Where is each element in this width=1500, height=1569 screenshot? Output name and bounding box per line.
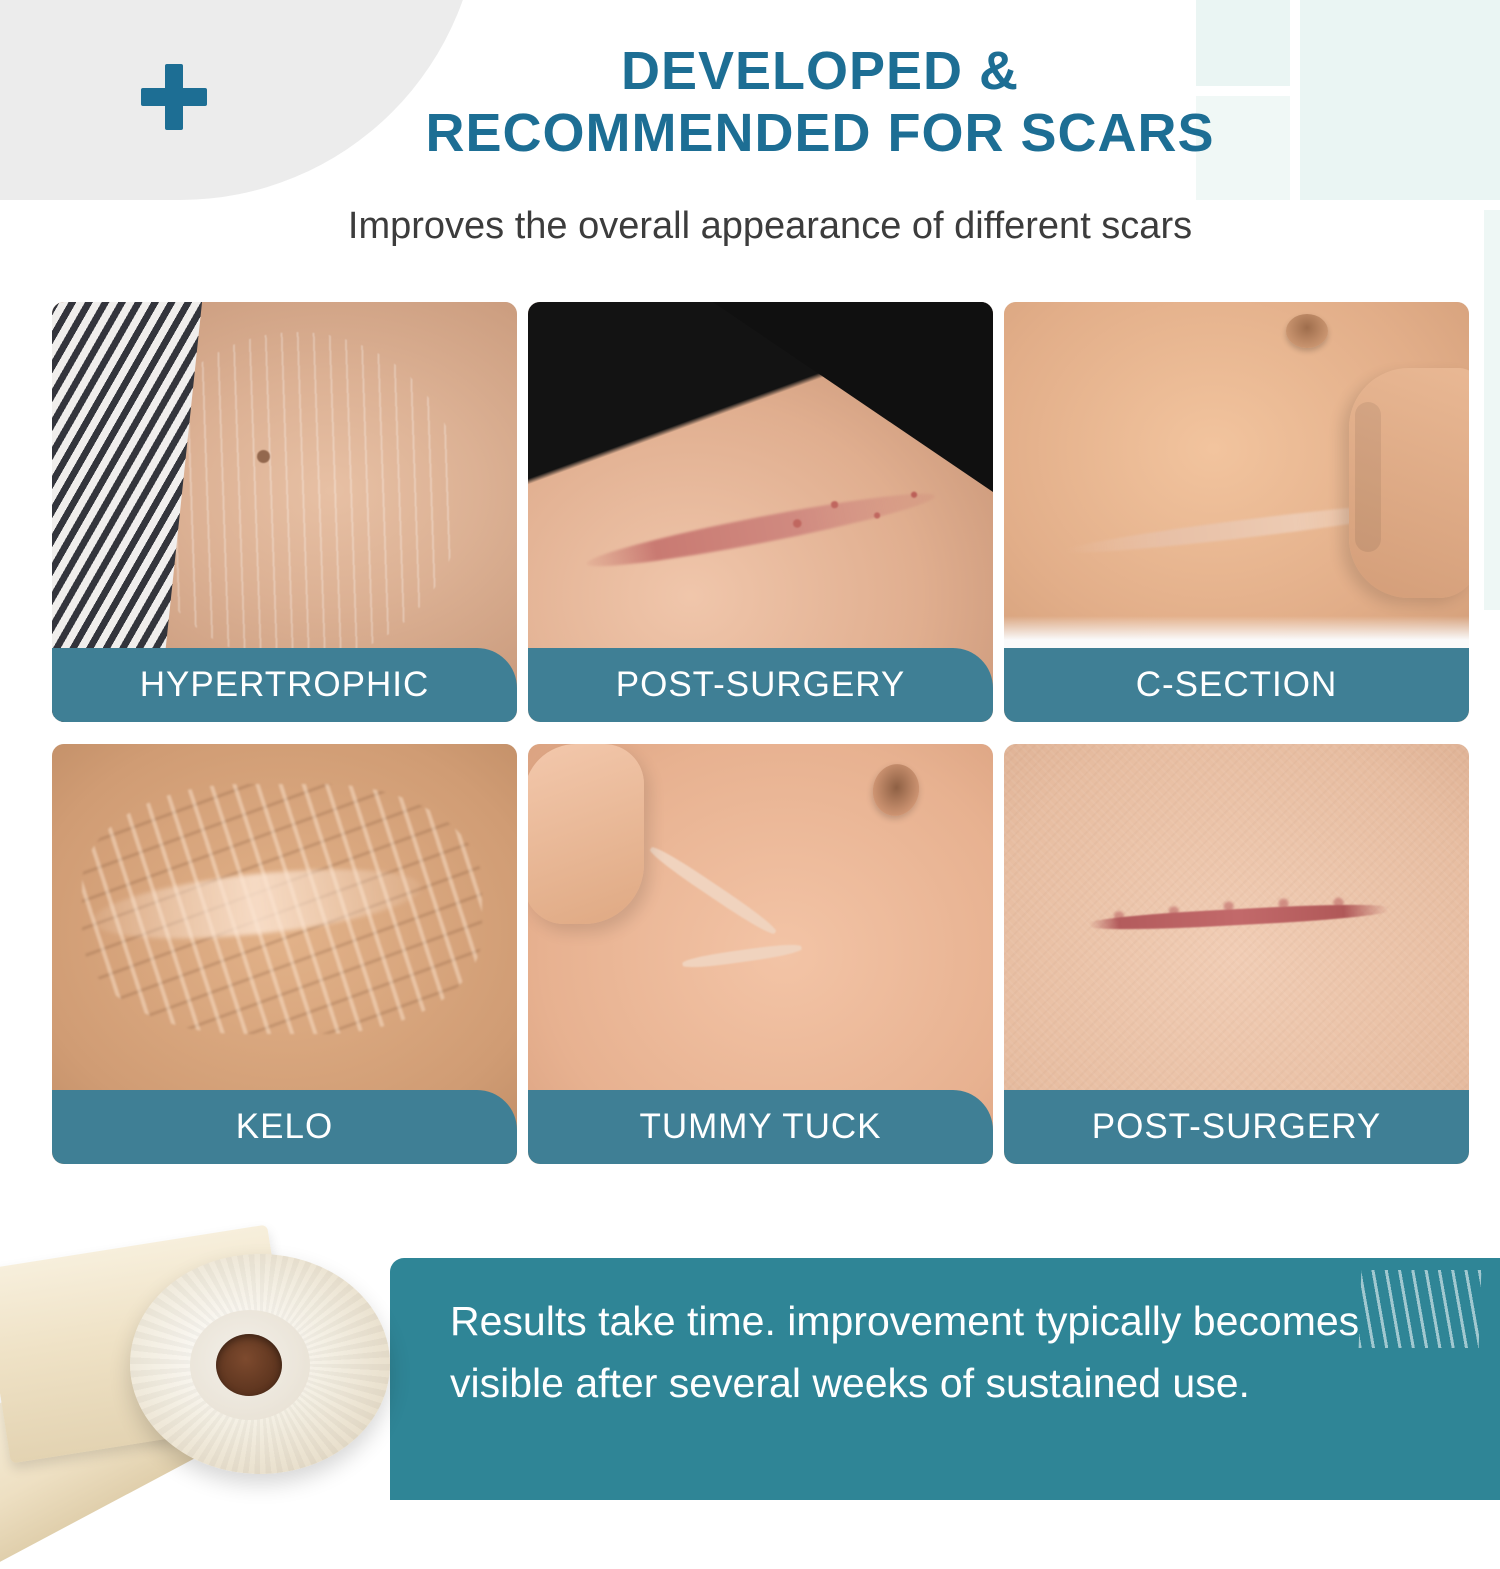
scar-card-post-surgery-stitched: POST-SURGERY <box>1004 744 1469 1164</box>
card-caption: HYPERTROPHIC <box>52 648 517 722</box>
scar-card-tummy-tuck: TUMMY TUCK <box>528 744 993 1164</box>
banner-text: Results take time. improvement typically… <box>450 1290 1390 1414</box>
scar-type-grid: HYPERTROPHIC POST-SURGERY C-SECTION <box>52 302 1472 1164</box>
card-caption: POST-SURGERY <box>528 648 993 722</box>
page-title: DEVELOPED & RECOMMENDED FOR SCARS <box>230 40 1410 164</box>
results-banner: Results take time. improvement typically… <box>390 1258 1500 1500</box>
product-infographic: DEVELOPED & RECOMMENDED FOR SCARS Improv… <box>0 0 1500 1500</box>
card-caption: TUMMY TUCK <box>528 1090 993 1164</box>
scar-card-kelo: KELO <box>52 744 517 1164</box>
headline-line-2: RECOMMENDED FOR SCARS <box>230 102 1410 164</box>
decorative-edge-band <box>1484 210 1500 610</box>
card-caption: C-SECTION <box>1004 648 1469 722</box>
scar-card-hypertrophic: HYPERTROPHIC <box>52 302 517 722</box>
card-caption: POST-SURGERY <box>1004 1090 1469 1164</box>
product-image-scar-tape <box>0 1228 420 1500</box>
medical-plus-icon <box>141 64 207 130</box>
scar-card-c-section: C-SECTION <box>1004 302 1469 722</box>
scar-card-post-surgery-arm: POST-SURGERY <box>528 302 993 722</box>
card-caption: KELO <box>52 1090 517 1164</box>
headline-line-1: DEVELOPED & <box>230 40 1410 102</box>
page-subtitle: Improves the overall appearance of diffe… <box>120 203 1420 249</box>
